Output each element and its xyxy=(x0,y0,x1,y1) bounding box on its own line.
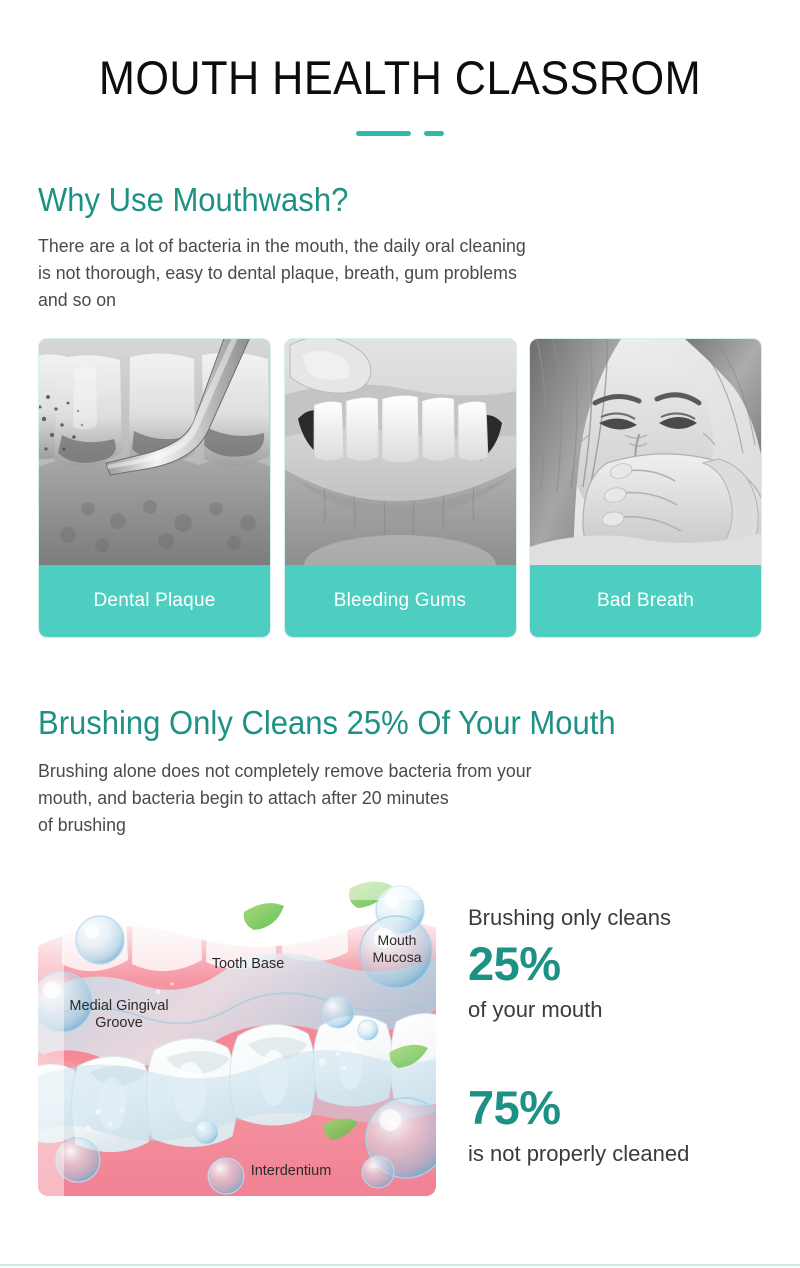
stat-lead-text: Brushing only cleans xyxy=(468,902,788,934)
section-body-why-use-mouthwash: There are a lot of bacteria in the mouth… xyxy=(38,232,768,313)
stat-sub-cleaned: of your mouth xyxy=(468,994,788,1026)
card-caption-dental-plaque: Dental Plaque xyxy=(39,565,270,637)
card-image-bleeding-gums xyxy=(285,339,516,567)
section-body-brushing-only-cleans: Brushing alone does not completely remov… xyxy=(38,757,768,838)
section-heading-brushing-only-cleans: Brushing Only Cleans 25% Of Your Mouth xyxy=(38,703,616,743)
problem-cards-row: Dental Plaque xyxy=(38,338,762,638)
lower-content-block: Tooth Base Mouth Mucosa Medial Gingival … xyxy=(0,876,800,1201)
stat-spacer xyxy=(468,1026,788,1078)
stat-value-uncleaned: 75% xyxy=(468,1080,788,1136)
page-title: MOUTH HEALTH CLASSROM xyxy=(32,50,768,106)
card-dental-plaque[interactable]: Dental Plaque xyxy=(38,338,271,638)
stat-value-cleaned: 25% xyxy=(468,936,788,992)
teeth-gums-illustration: Tooth Base Mouth Mucosa Medial Gingival … xyxy=(38,876,436,1196)
divider-dash-long xyxy=(356,131,411,136)
section-heading-why-use-mouthwash: Why Use Mouthwash? xyxy=(38,180,348,220)
footer-divider xyxy=(0,1264,800,1266)
brushing-statistics: Brushing only cleans 25% of your mouth 7… xyxy=(468,876,788,1170)
title-divider xyxy=(0,131,800,136)
stat-sub-uncleaned: is not properly cleaned xyxy=(468,1138,788,1170)
card-bad-breath[interactable]: Bad Breath xyxy=(529,338,762,638)
card-image-bad-breath xyxy=(530,339,761,567)
divider-dash-short xyxy=(424,131,444,136)
card-caption-bad-breath: Bad Breath xyxy=(530,565,761,637)
card-caption-bleeding-gums: Bleeding Gums xyxy=(285,565,516,637)
card-image-dental-plaque xyxy=(39,339,270,567)
card-bleeding-gums[interactable]: Bleeding Gums xyxy=(284,338,517,638)
